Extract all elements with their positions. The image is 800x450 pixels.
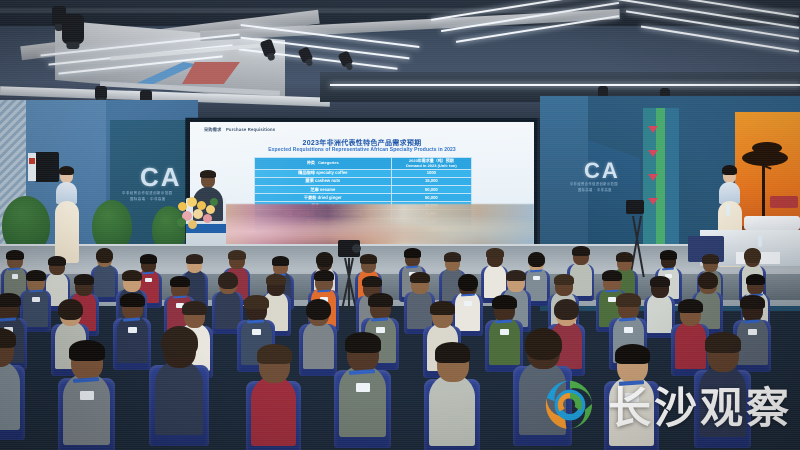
- audience-hair: [96, 248, 113, 262]
- video-camera-icon: [626, 200, 644, 214]
- badge: [608, 297, 616, 302]
- audience-hair: [360, 254, 377, 264]
- audience-hair: [228, 250, 245, 260]
- audience-hair: [58, 299, 82, 320]
- lanyard: [530, 269, 542, 272]
- audience-torso: [339, 365, 386, 438]
- stage-light-icon: [95, 86, 107, 100]
- audience-torso: [647, 293, 672, 332]
- audience-torso: [489, 317, 520, 365]
- audience-torso: [429, 374, 475, 446]
- audience-hair: [316, 252, 333, 266]
- changsha-observer-swirl-logo: [541, 376, 599, 434]
- audience-torso: [455, 291, 480, 330]
- audience-hair: [345, 332, 381, 353]
- audience-hair: [48, 256, 65, 266]
- decor-triangle: [648, 126, 658, 133]
- audience-hair: [404, 248, 421, 258]
- screen-glare: [190, 122, 534, 250]
- audience-hair: [140, 254, 157, 264]
- water-bottle: [758, 236, 762, 247]
- water-bottle: [726, 204, 730, 216]
- ca-logo-right-subtitle: 中非经贸合作促进创新示范园: [570, 181, 618, 186]
- audience-torso: [155, 360, 204, 436]
- audience-hair: [314, 270, 334, 281]
- audience-hair: [746, 274, 765, 285]
- badge: [80, 391, 94, 400]
- audience-hair: [444, 252, 461, 262]
- audience-hair: [650, 276, 670, 287]
- audience-hair: [506, 270, 526, 281]
- audience-hair: [161, 326, 199, 358]
- audience-hair: [705, 332, 741, 353]
- decor-triangle: [648, 150, 658, 157]
- badge: [12, 274, 19, 278]
- audience-torso: [303, 321, 334, 369]
- decor-stripe: [665, 108, 679, 258]
- audience-hair: [435, 342, 471, 362]
- audience-torso: [675, 321, 706, 369]
- badge: [624, 327, 633, 333]
- audience-hair: [554, 274, 574, 285]
- audience-hair: [26, 270, 46, 281]
- acacia-tree-trunk: [762, 163, 765, 221]
- audience-hair: [744, 248, 761, 262]
- audience-hair: [0, 293, 21, 307]
- audience-hair: [170, 276, 190, 287]
- audience-torso: [251, 376, 296, 446]
- stage-light-icon: [298, 46, 314, 63]
- badge: [464, 301, 472, 306]
- audience-hair: [368, 293, 392, 307]
- camera-lens-icon: [352, 244, 361, 253]
- audience-hair: [458, 274, 478, 291]
- badge: [500, 329, 509, 335]
- audience-hair: [572, 246, 589, 256]
- stage-light-icon: [62, 14, 84, 44]
- press-red-case: [770, 196, 798, 208]
- badge: [376, 327, 385, 333]
- audience-hair: [266, 274, 286, 285]
- audience-torso: [94, 263, 116, 297]
- audience-hair: [616, 293, 640, 307]
- audience-hair: [616, 252, 633, 262]
- audience-hair: [362, 276, 382, 287]
- flower-arrangement: [176, 196, 222, 232]
- ca-logo-right-subtitle2: 国际高端 · 中非高度: [578, 187, 612, 192]
- audience-hair: [660, 250, 677, 260]
- lanyard: [406, 265, 418, 268]
- audience-hair: [486, 248, 503, 258]
- audience-hair: [120, 293, 144, 307]
- audience-hair: [6, 250, 23, 260]
- stage-light-icon: [338, 50, 354, 67]
- audience-hair: [702, 254, 718, 263]
- badge: [128, 327, 137, 333]
- badge: [32, 297, 40, 302]
- audience-hair: [492, 295, 516, 309]
- watermark-text: 长沙观察: [608, 374, 792, 436]
- lanyard: [662, 267, 674, 270]
- screenshot-root: CA 中非经贸合作促进创新示范园 国际高端 · 中非高度 CA 中非经贸合作促进…: [0, 0, 800, 450]
- lanyard: [142, 271, 154, 274]
- audience-torso: [117, 315, 148, 363]
- audience-hair: [410, 272, 430, 283]
- audience-hair: [218, 272, 238, 289]
- audience-hair: [306, 299, 330, 320]
- audience-hair: [244, 295, 268, 309]
- tripod-icon: [348, 258, 350, 310]
- audience-torso: [407, 289, 432, 328]
- badge: [748, 329, 757, 335]
- audience-hair: [554, 299, 578, 320]
- press-table: [744, 216, 800, 230]
- audience-torso: [63, 373, 110, 446]
- ca-logo-left-subtitle: 中非经贸合作促进创新示范园: [122, 190, 173, 195]
- wall-sign-mark: [29, 158, 35, 164]
- audience-hair: [430, 301, 454, 315]
- audience-hair: [525, 328, 562, 360]
- ca-logo-left-subtitle2: 国际高端 · 中非高度: [130, 196, 166, 201]
- audience-hair: [528, 252, 545, 266]
- audience-hair: [272, 256, 289, 266]
- audience-hair: [257, 344, 292, 364]
- audience-torso: [23, 287, 48, 326]
- badge: [145, 278, 152, 282]
- audience-hair: [602, 270, 622, 281]
- decor-triangle: [648, 174, 658, 181]
- audience-hair: [74, 274, 94, 285]
- badge: [252, 329, 261, 335]
- ca-logo-left: CA: [140, 162, 182, 193]
- audience-hair: [69, 340, 105, 361]
- decor-triangle: [648, 198, 658, 205]
- badge: [533, 276, 540, 280]
- watermark: 长沙观察: [541, 374, 792, 436]
- badge: [356, 383, 370, 392]
- audience-torso: [215, 289, 240, 328]
- audience-hair: [615, 344, 650, 364]
- acacia-tree-canopy: [752, 142, 782, 154]
- audience-hair: [678, 299, 702, 313]
- audience-hair: [740, 295, 764, 309]
- audience-hair: [182, 301, 206, 315]
- audience-hair: [122, 270, 142, 281]
- audience-torso: [737, 317, 768, 365]
- loudspeaker-icon: [35, 152, 59, 182]
- audience-hair: [698, 272, 718, 289]
- audience-hair: [186, 254, 203, 264]
